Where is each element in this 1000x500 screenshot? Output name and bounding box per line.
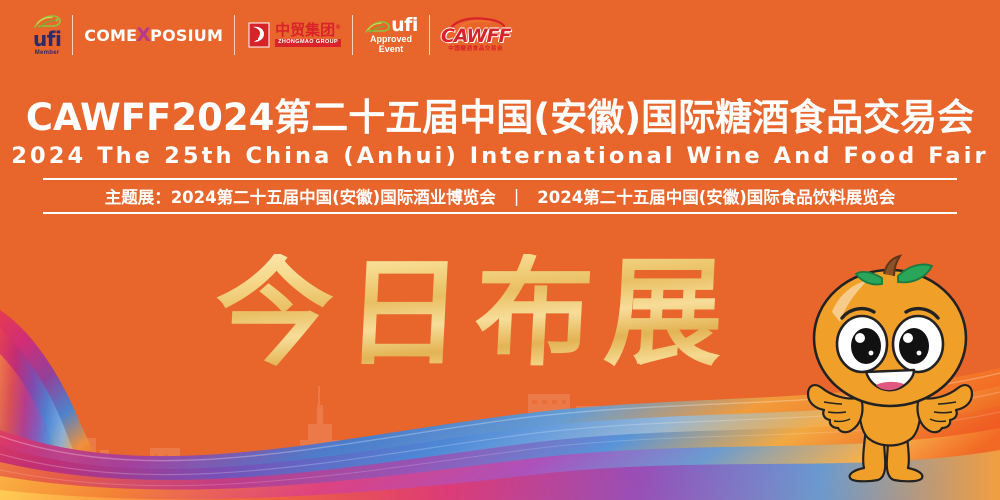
comexposium-part-1: COME: [84, 26, 137, 45]
zhongmao-english-wordmark: ZHONGMAO GROUP: [275, 39, 341, 47]
comexposium-part-2: POSIUM: [150, 26, 223, 45]
ufi-approved-line-2: Event: [379, 45, 404, 54]
theme-separator: |: [510, 187, 524, 206]
cawff-wordmark: CAWFF: [441, 27, 511, 46]
ufi-member-logo[interactable]: ufi Member: [22, 9, 72, 61]
theme-exhibition-1: 主题展：2024第二十五届中国(安徽)国际酒业博览会: [105, 184, 496, 208]
calligraphy-headline: 今日布展: [150, 248, 800, 378]
calligraphy-text: 今日布展: [212, 254, 738, 372]
registered-trademark-icon: ®: [335, 24, 341, 31]
page-title-chinese: CAWFF2024第二十五届中国(安徽)国际糖酒食品交易会: [0, 95, 1000, 141]
zhongmao-group-logo[interactable]: 中贸集团® ZHONGMAO GROUP: [235, 9, 352, 61]
theme-exhibition-2: 2024第二十五届中国(安徽)国际食品饮料展览会: [537, 184, 895, 208]
comexposium-x-accent: X: [136, 24, 151, 46]
page-title-english: 2024 The 25th China (Anhui) Internationa…: [0, 141, 1000, 171]
theme-strip: 主题展：2024第二十五届中国(安徽)国际酒业博览会 | 2024第二十五届中国…: [0, 178, 1000, 214]
comexposium-logo[interactable]: COMEXPOSIUM: [73, 9, 234, 61]
divider-bottom: [43, 212, 957, 214]
ufi-member-sublabel: Member: [35, 50, 60, 56]
ufi-approved-event-logo[interactable]: ufi Approved Event: [353, 9, 429, 61]
ufi-approved-wordmark: ufi: [391, 16, 418, 35]
ufi-wing-icon: [364, 21, 390, 35]
cawff-logo[interactable]: CAWFF 中国糖酒食品交易会: [430, 9, 522, 61]
theme-exhibitions-row: 主题展：2024第二十五届中国(安徽)国际酒业博览会 | 2024第二十五届中国…: [0, 180, 1000, 212]
cawff-sublabel: 中国糖酒食品交易会: [448, 47, 503, 53]
promotional-banner: ufi Member COMEXPOSIUM 中贸集团® ZH: [0, 0, 1000, 500]
zhongmao-chinese-wordmark: 中贸集团®: [275, 23, 341, 38]
headline-block: CAWFF2024第二十五届中国(安徽)国际糖酒食品交易会 2024 The 2…: [0, 95, 1000, 214]
orange-fruit-mascot: [788, 252, 1000, 488]
zhongmao-emblem-icon: [246, 20, 272, 50]
ufi-member-wordmark: ufi: [33, 29, 61, 49]
sponsor-logo-bar: ufi Member COMEXPOSIUM 中贸集团® ZH: [22, 8, 521, 62]
